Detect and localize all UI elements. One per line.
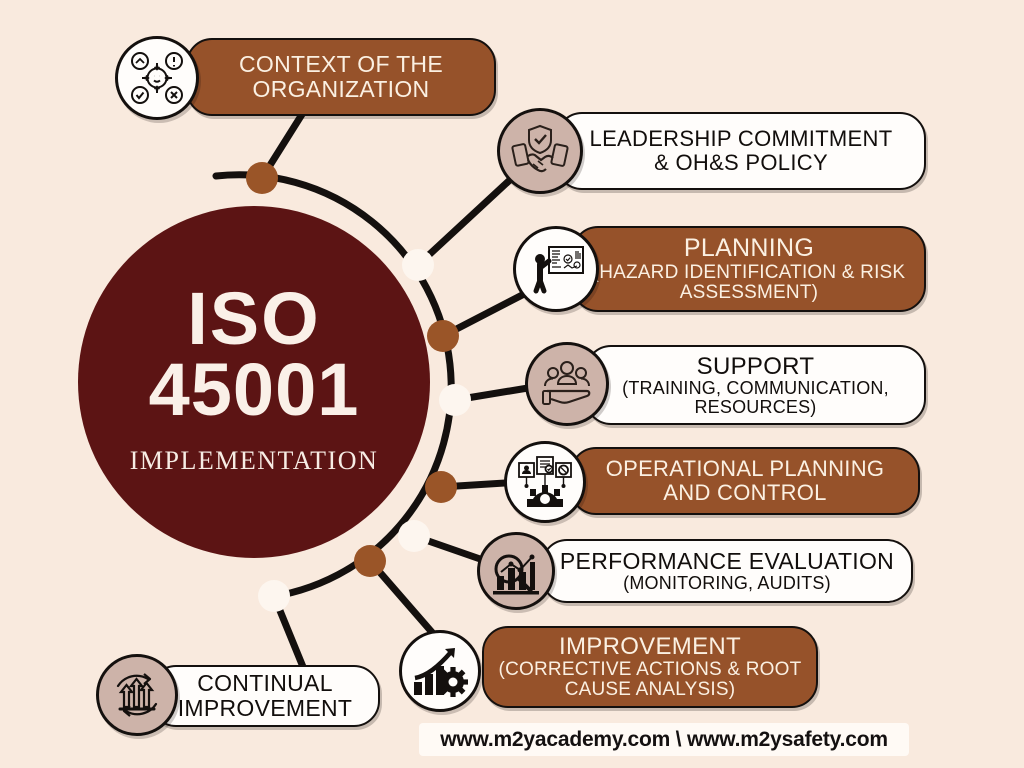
center-title-number: 45001 <box>149 354 360 427</box>
item-planning-sub: (HAZARD IDENTIFICATION & RISK ASSESSMENT… <box>586 263 912 303</box>
pill-leadership[interactable]: LEADERSHIP COMMITMENT & OH&S POLICY <box>556 112 926 190</box>
item-performance-title: PERFORMANCE EVALUATION <box>560 548 894 574</box>
pill-operational[interactable]: OPERATIONAL PLANNING AND CONTROL <box>570 447 920 515</box>
pill-planning[interactable]: PLANNING (HAZARD IDENTIFICATION & RISK A… <box>572 226 926 312</box>
cycle-arrows-icon[interactable] <box>96 654 178 736</box>
handshake-shield-icon[interactable] <box>497 108 583 194</box>
magnifier-chart-icon[interactable] <box>477 532 555 610</box>
pill-improvement[interactable]: IMPROVEMENT (CORRECTIVE ACTIONS & ROOT C… <box>482 626 818 708</box>
item-continual-title2: IMPROVEMENT <box>178 695 353 721</box>
node-context <box>246 162 278 194</box>
connector-leadership <box>418 178 512 265</box>
item-continual-title: CONTINUAL <box>197 670 333 696</box>
center-subtitle: IMPLEMENTATION <box>130 446 379 476</box>
node-continual <box>258 580 290 612</box>
hand-people-icon[interactable] <box>525 342 609 426</box>
item-support-title: SUPPORT <box>697 353 815 380</box>
presenter-board-icon[interactable] <box>513 226 599 312</box>
center-title-iso: ISO <box>187 284 320 354</box>
pill-continual[interactable]: CONTINUAL IMPROVEMENT <box>150 665 380 727</box>
footer-bar: www.m2yacademy.com \ www.m2ysafety.com <box>419 723 909 756</box>
item-support-sub: (TRAINING, COMMUNICATION, RESOURCES) <box>599 379 912 417</box>
item-improvement-sub: (CORRECTIVE ACTIONS & ROOT CAUSE ANALYSI… <box>496 660 804 700</box>
item-performance-sub: (MONITORING, AUDITS) <box>555 574 899 593</box>
context-gear-icon[interactable] <box>115 36 199 120</box>
item-context-title: CONTEXT OF THE <box>239 51 443 77</box>
item-context-title2: ORGANIZATION <box>253 76 430 102</box>
item-operational-title: OPERATIONAL PLANNING <box>606 456 885 481</box>
process-gear-icon[interactable] <box>504 441 586 523</box>
connector-planning <box>443 292 528 336</box>
item-operational-title2: AND CONTROL <box>663 480 826 505</box>
node-improvement <box>354 545 386 577</box>
item-improvement-title: IMPROVEMENT <box>559 633 741 660</box>
pill-performance[interactable]: PERFORMANCE EVALUATION (MONITORING, AUDI… <box>541 539 913 603</box>
item-leadership-title2: & OH&S POLICY <box>654 150 828 175</box>
pill-context[interactable]: CONTEXT OF THE ORGANIZATION <box>186 38 496 116</box>
node-operational <box>425 471 457 503</box>
node-support <box>439 384 471 416</box>
item-planning-title: PLANNING <box>684 234 814 262</box>
node-planning <box>427 320 459 352</box>
item-leadership-title: LEADERSHIP COMMITMENT <box>590 126 893 151</box>
center-badge: ISO 45001 IMPLEMENTATION <box>78 206 430 558</box>
footer-urls: www.m2yacademy.com \ www.m2ysafety.com <box>440 728 888 752</box>
node-performance <box>398 520 430 552</box>
node-leadership <box>402 249 434 281</box>
connector-context <box>262 108 306 178</box>
infographic-canvas: ISO 45001 IMPLEMENTATION CONTEXT OF THE … <box>0 0 1024 768</box>
connector-improvement <box>370 561 437 638</box>
growth-gear-icon[interactable] <box>399 630 481 712</box>
pill-support[interactable]: SUPPORT (TRAINING, COMMUNICATION, RESOUR… <box>585 345 926 425</box>
